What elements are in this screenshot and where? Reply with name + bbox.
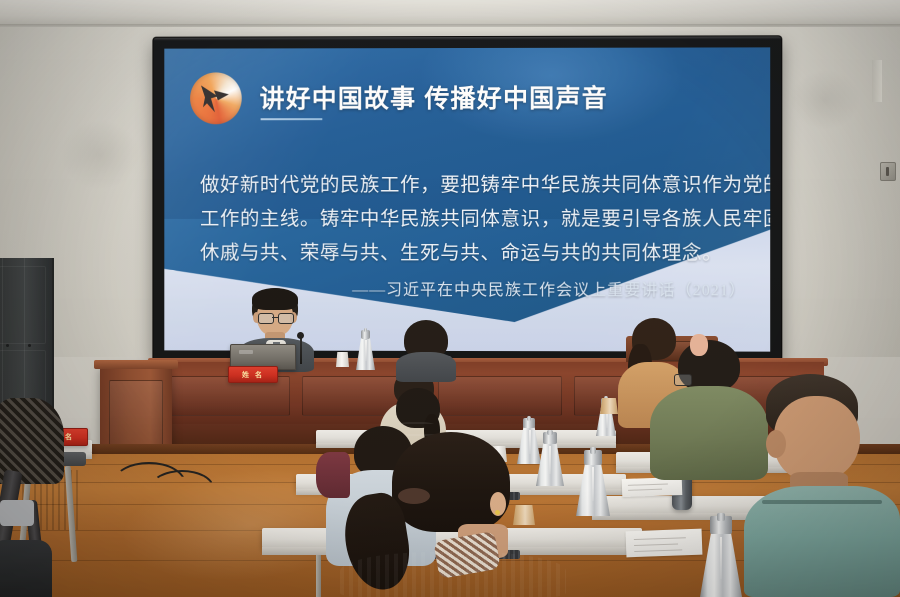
slide-body-line-2: 工作的主线。铸牢中华民族共同体意识，就是要引导各族人民牢固树立 <box>200 202 740 236</box>
microphone-head <box>297 332 304 339</box>
conference-room-photo: 讲好中国故事 传播好中国声音 做好新时代党的民族工作，要把铸牢中华民族共同体意识… <box>0 0 900 597</box>
slide-title-underline <box>261 118 323 120</box>
jacket-seam <box>762 500 882 504</box>
wall-smudge <box>790 70 860 130</box>
wall-outlet-plate[interactable] <box>880 162 896 181</box>
stroller-seat <box>0 540 52 597</box>
slide-body-line-3: 休戚与共、荣辱与共、生死与共、命运与共的共同体理念。 <box>200 236 740 270</box>
gooseneck-microphone <box>300 336 302 364</box>
podium-top-surface <box>94 360 178 369</box>
audience-member-red-sweater <box>340 432 566 597</box>
earring <box>495 510 500 515</box>
audience-hand <box>690 334 708 356</box>
screen-bezel-highlight <box>153 36 781 40</box>
stroller-pad <box>0 500 34 526</box>
paper-cup <box>336 352 349 367</box>
wall-smudge <box>60 120 140 190</box>
dove-emblem-logo <box>190 72 242 124</box>
slide-body-text: 做好新时代党的民族工作，要把铸牢中华民族共同体意识作为党的民族 工作的主线。铸牢… <box>200 168 740 270</box>
hair-tie <box>398 488 430 504</box>
conical-steel-thermos <box>356 330 375 370</box>
audience-member-teal <box>744 374 900 597</box>
desk-leg <box>316 555 321 597</box>
audience-member-back <box>396 320 456 382</box>
nameplate-front: 姓 名 <box>228 366 278 383</box>
conical-steel-thermos <box>700 516 742 597</box>
wall-conduit <box>872 60 882 102</box>
slide-attribution: ——习近平在中央民族工作会议上重要讲话（2021） <box>352 276 746 301</box>
nameplate-front-text: 姓 名 <box>229 367 277 382</box>
dove-icon <box>198 81 234 115</box>
conical-steel-thermos <box>576 450 610 516</box>
ceiling <box>0 0 900 26</box>
slide-title: 讲好中国故事 传播好中国声音 <box>260 79 608 115</box>
handout-paper <box>626 529 703 558</box>
slide-body-line-1: 做好新时代党的民族工作，要把铸牢中华民族共同体意识作为党的民族 <box>200 168 740 202</box>
